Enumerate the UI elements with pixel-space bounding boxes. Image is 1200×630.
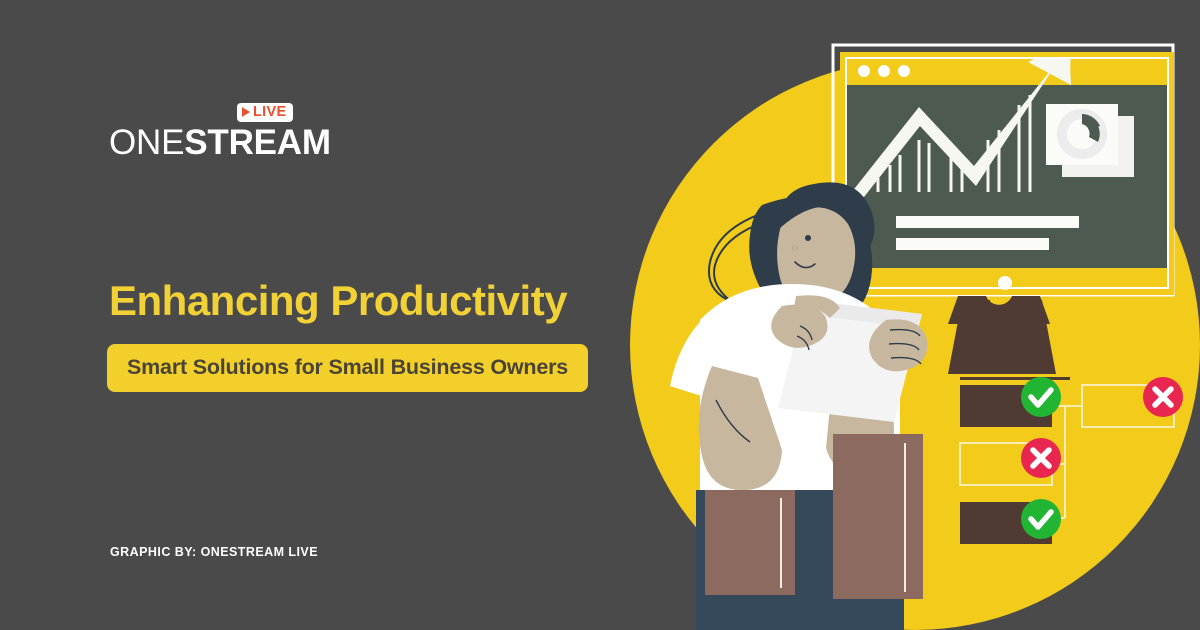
status-badge-check-2 — [1021, 499, 1061, 539]
monitor-power-dot — [998, 276, 1012, 290]
graphic-credit: GRAPHIC BY: ONESTREAM LIVE — [110, 545, 318, 559]
text-column: LIVE ONESTREAM Enhancing Productivity Sm… — [0, 0, 640, 630]
status-badge-cross-1 — [1143, 377, 1183, 417]
foreground-box-tall — [833, 434, 923, 599]
screen-text-line-1 — [896, 216, 1079, 228]
trapezoid-underline — [960, 377, 1070, 380]
play-triangle-icon — [242, 107, 250, 117]
eye — [805, 235, 811, 241]
subtitle-pill: Smart Solutions for Small Business Owner… — [107, 344, 588, 392]
ear — [790, 243, 800, 253]
poster-canvas: LIVE ONESTREAM Enhancing Productivity Sm… — [0, 0, 1200, 630]
logo-word-one: ONE — [109, 123, 184, 162]
screen-text-line-2 — [896, 238, 1049, 250]
live-badge: LIVE — [237, 103, 293, 122]
status-badge-check-1 — [1021, 377, 1061, 417]
titlebar-dot-1 — [858, 65, 870, 77]
titlebar-dot-2 — [878, 65, 890, 77]
live-badge-label: LIVE — [253, 105, 286, 120]
brand-logo[interactable]: LIVE ONESTREAM — [109, 103, 409, 163]
page-title: Enhancing Productivity — [109, 277, 567, 325]
subtitle-text: Smart Solutions for Small Business Owner… — [127, 355, 568, 379]
logo-wordmark: ONESTREAM — [109, 124, 331, 162]
logo-word-stream: STREAM — [184, 123, 331, 162]
monitor-titlebar — [846, 58, 1168, 85]
monitor — [833, 42, 1174, 295]
titlebar-dot-3 — [898, 65, 910, 77]
status-badge-cross-2 — [1021, 438, 1061, 478]
